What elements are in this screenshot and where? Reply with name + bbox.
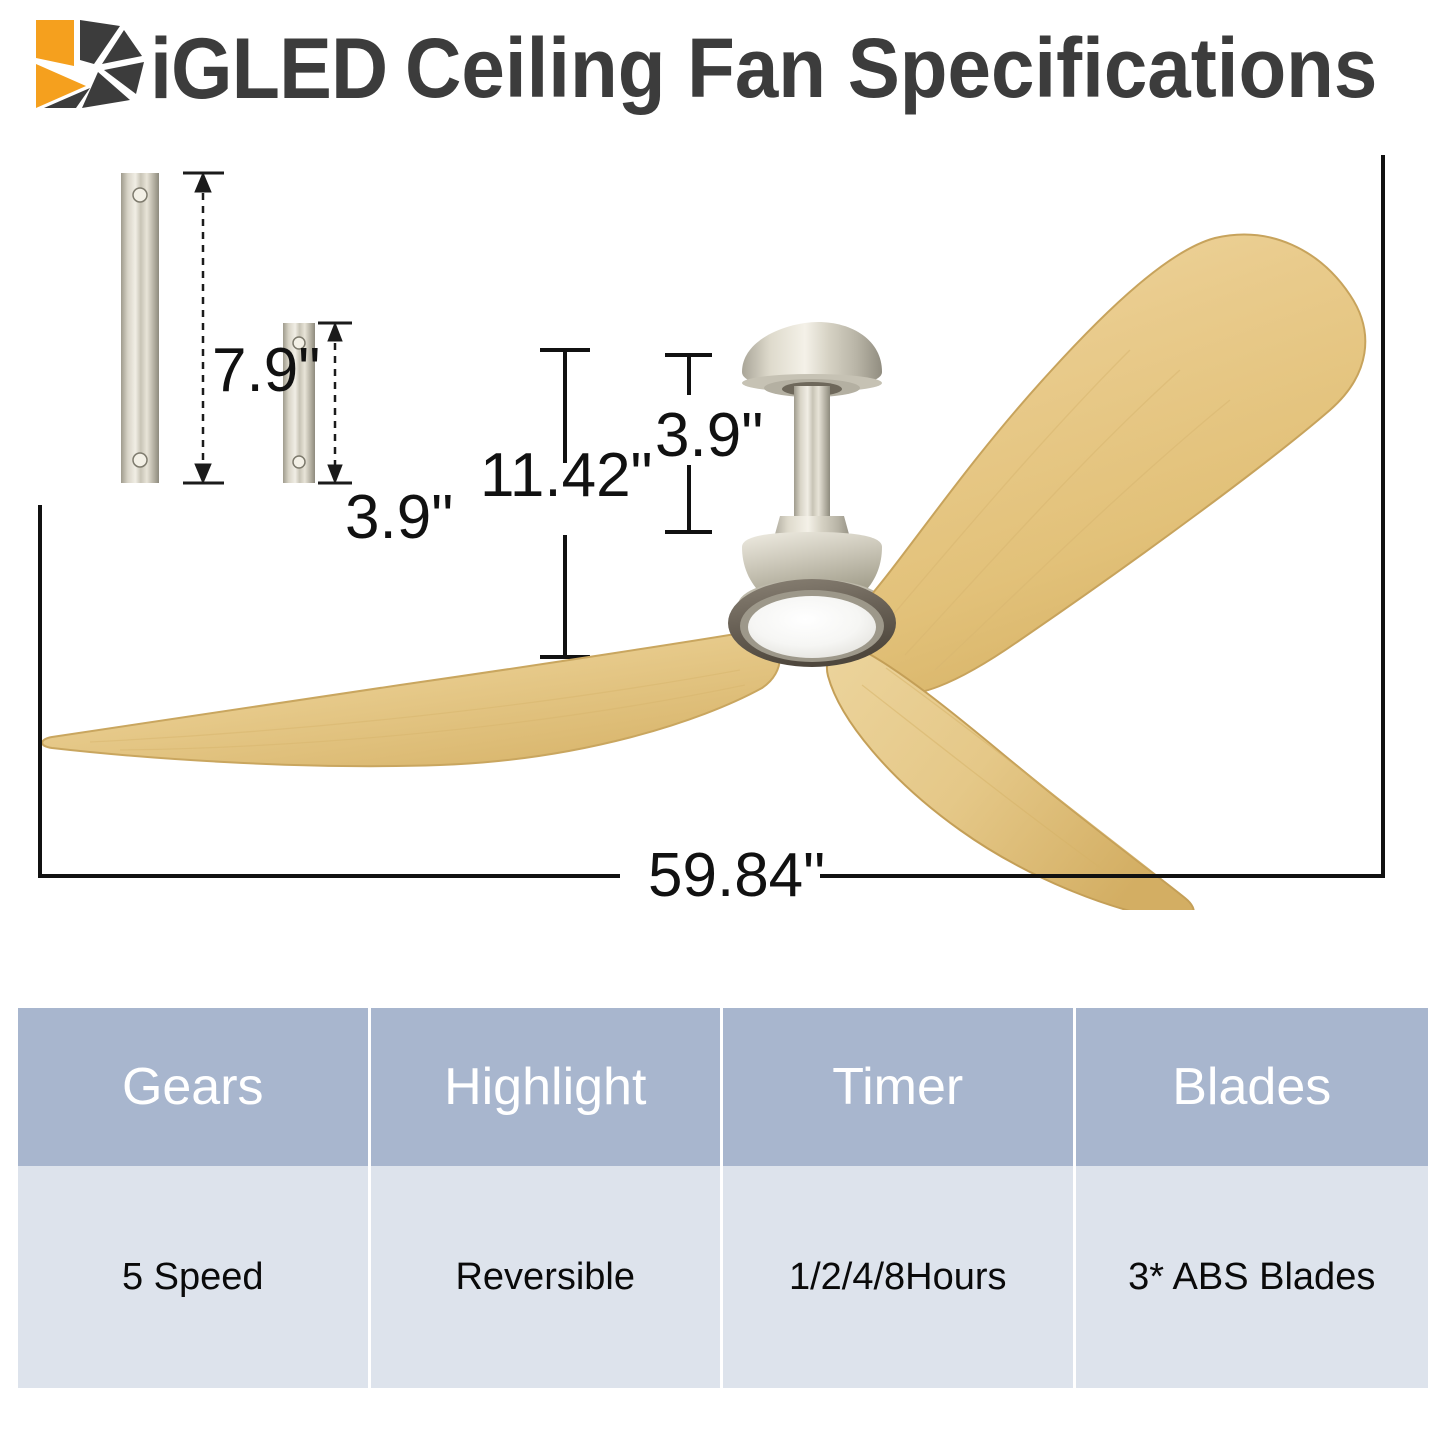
table-header-gears: Gears — [18, 1008, 371, 1166]
downrod-long-dimension-line — [183, 173, 224, 483]
downrod-long-dimension-label: 7.9" — [212, 335, 320, 406]
table-cell-blades-value: 3* ABS Blades — [1076, 1166, 1429, 1388]
downrod-short-dimension-label: 3.9" — [345, 482, 453, 553]
specification-sheet: iGLED Ceiling Fan Specifications — [0, 0, 1445, 1445]
blade-span-dimension-label: 59.84" — [648, 840, 825, 911]
fan-blade-lower-right — [827, 646, 1194, 910]
fan-downrod — [772, 386, 852, 545]
table-cell-highlight-value: Reversible — [371, 1166, 724, 1388]
page-title: Ceiling Fan Specifications — [405, 20, 1377, 117]
table-header-blades: Blades — [1076, 1008, 1429, 1166]
long-downrod — [121, 173, 159, 483]
aperture-d-logo-icon — [24, 14, 152, 112]
table-header-highlight: Highlight — [371, 1008, 724, 1166]
overall-height-dimension-label: 11.42" — [480, 440, 653, 511]
fan-diagram: 7.9" 3.9" 11.42" 3.9" 59.84" — [0, 110, 1445, 910]
table-cell-timer-value: 1/2/4/8Hours — [723, 1166, 1076, 1388]
table-value-row: 5 Speed Reversible 1/2/4/8Hours 3* ABS B… — [18, 1166, 1428, 1388]
downrod-short-dimension-line — [318, 323, 352, 483]
ceiling-canopy — [742, 322, 882, 397]
canopy-height-dimension-label: 3.9" — [655, 400, 763, 471]
specifications-table: Gears Highlight Timer Blades 5 Speed Rev… — [18, 1008, 1428, 1388]
table-header-row: Gears Highlight Timer Blades — [18, 1008, 1428, 1166]
fan-blade-upper-right — [852, 235, 1365, 695]
table-header-timer: Timer — [723, 1008, 1076, 1166]
brand-name: iGLED — [150, 20, 387, 119]
fan-blade-left — [42, 630, 780, 766]
led-light-kit — [728, 579, 896, 667]
page-header: iGLED Ceiling Fan Specifications — [0, 0, 1445, 125]
table-cell-gears-value: 5 Speed — [18, 1166, 371, 1388]
